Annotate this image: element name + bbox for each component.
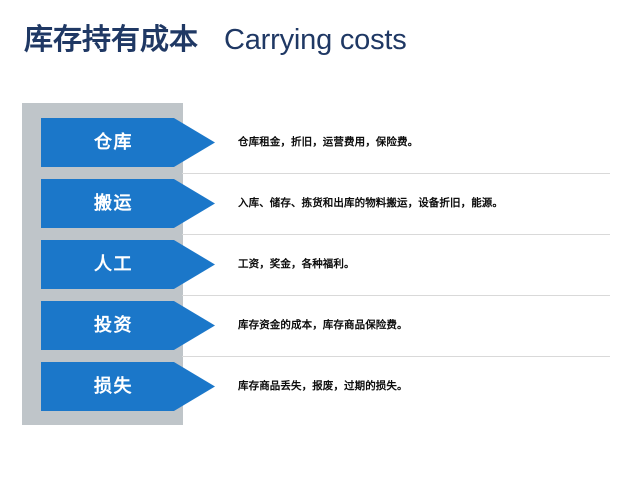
category-description: 仓库租金，折旧，运营费用，保险费。 <box>238 118 620 167</box>
list-item[interactable]: 投资 库存资金的成本，库存商品保险费。 <box>0 301 640 362</box>
list-item[interactable]: 损失 库存商品丢失，报废，过期的损失。 <box>0 362 640 423</box>
chevron-shape-investment[interactable]: 投资 <box>41 301 215 350</box>
chevron-label: 人工 <box>41 255 174 275</box>
row-divider <box>182 356 610 357</box>
row-divider <box>182 295 610 296</box>
category-description: 库存商品丢失，报废，过期的损失。 <box>238 362 620 411</box>
chevron-shape-loss[interactable]: 损失 <box>41 362 215 411</box>
chevron-shape-labor[interactable]: 人工 <box>41 240 215 289</box>
chevron-label: 投资 <box>41 316 174 336</box>
cost-category-list: 仓库 仓库租金，折旧，运营费用，保险费。 搬运 入库、储存、拣货和出库的物料搬运… <box>0 0 640 480</box>
chevron-label: 搬运 <box>41 194 174 214</box>
chevron-shape-warehouse[interactable]: 仓库 <box>41 118 215 167</box>
category-description: 入库、储存、拣货和出库的物料搬运，设备折旧，能源。 <box>238 179 620 228</box>
category-description: 库存资金的成本，库存商品保险费。 <box>238 301 620 350</box>
chevron-shape-handling[interactable]: 搬运 <box>41 179 215 228</box>
chevron-label: 损失 <box>41 377 174 397</box>
slide-canvas: 库存持有成本 Carrying costs 仓库 仓库租金，折旧，运营费用，保险… <box>0 0 640 480</box>
chevron-label: 仓库 <box>41 133 174 153</box>
list-item[interactable]: 仓库 仓库租金，折旧，运营费用，保险费。 <box>0 118 640 179</box>
list-item[interactable]: 搬运 入库、储存、拣货和出库的物料搬运，设备折旧，能源。 <box>0 179 640 240</box>
category-description: 工资，奖金，各种福利。 <box>238 240 620 289</box>
list-item[interactable]: 人工 工资，奖金，各种福利。 <box>0 240 640 301</box>
row-divider <box>182 173 610 174</box>
row-divider <box>182 234 610 235</box>
